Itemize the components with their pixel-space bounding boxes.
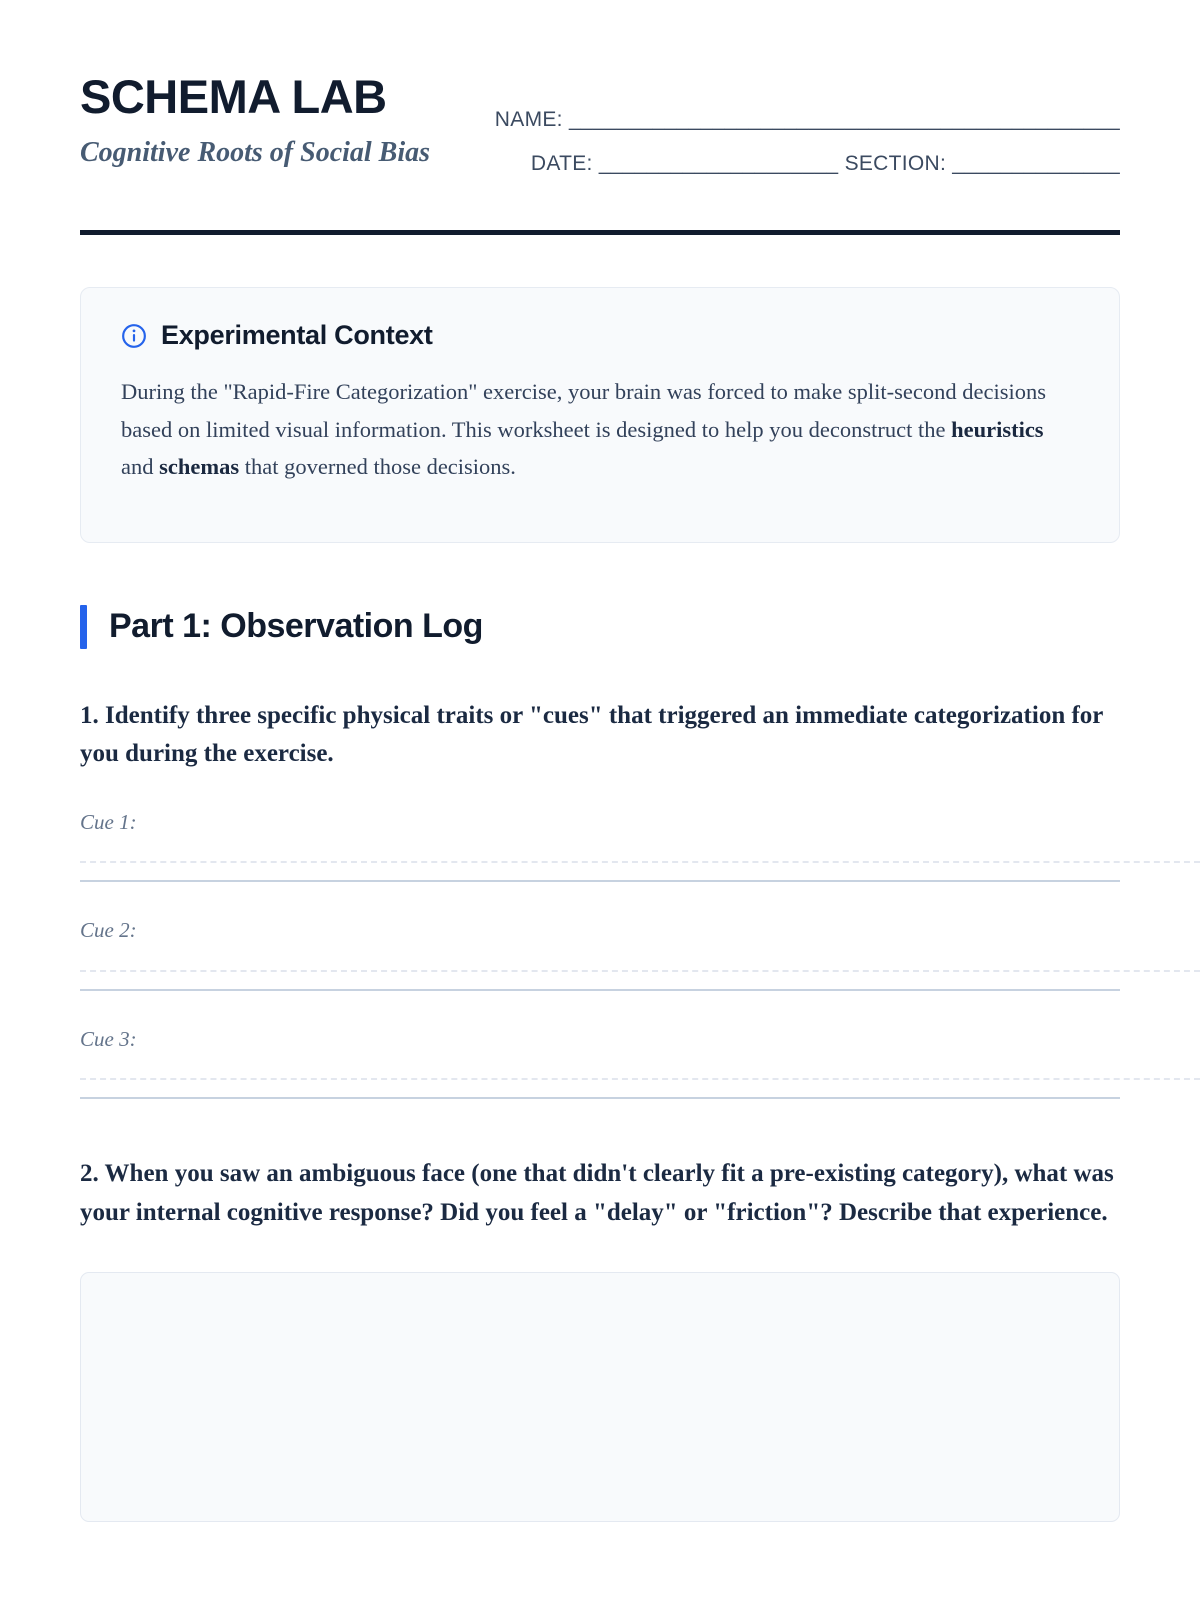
page-title: SCHEMA LAB bbox=[80, 72, 430, 121]
cue-1-answer-lines[interactable] bbox=[80, 861, 1120, 882]
header-title-block: SCHEMA LAB Cognitive Roots of Social Bia… bbox=[80, 72, 430, 173]
student-info-fields: NAME: __________________________________… bbox=[470, 72, 1120, 186]
name-field-blank[interactable]: ________________________________________… bbox=[569, 108, 1120, 131]
worksheet-header: SCHEMA LAB Cognitive Roots of Social Bia… bbox=[80, 0, 1120, 186]
cue-entry-3: Cue 3: bbox=[80, 1027, 1120, 1099]
cue-3-answer-lines[interactable] bbox=[80, 1078, 1120, 1099]
date-field-label: DATE: bbox=[531, 152, 593, 175]
callout-term-schemas: schemas bbox=[159, 454, 239, 479]
writing-line-dashed[interactable] bbox=[80, 970, 1200, 972]
part-1-heading: Part 1: Observation Log bbox=[80, 605, 1120, 649]
callout-body-text-1: During the "Rapid-Fire Categorization" e… bbox=[121, 379, 1046, 441]
callout-body: During the "Rapid-Fire Categorization" e… bbox=[121, 373, 1079, 485]
question-2-answer-box[interactable] bbox=[80, 1272, 1120, 1522]
callout-header: Experimental Context bbox=[121, 320, 1079, 351]
section-accent-bar bbox=[80, 605, 87, 649]
cue-2-label: Cue 2: bbox=[80, 918, 1120, 943]
callout-body-text-3: that governed those decisions. bbox=[239, 454, 516, 479]
cue-entry-1: Cue 1: bbox=[80, 810, 1120, 882]
cue-3-label: Cue 3: bbox=[80, 1027, 1120, 1052]
callout-term-heuristics: heuristics bbox=[951, 417, 1044, 442]
writing-line-solid[interactable] bbox=[80, 880, 1120, 882]
writing-line-dashed[interactable] bbox=[80, 1078, 1200, 1080]
name-field-label: NAME: bbox=[495, 108, 563, 131]
section-field-label: SECTION: bbox=[845, 152, 947, 175]
header-divider bbox=[80, 230, 1120, 235]
date-field-blank[interactable]: ____________________ bbox=[599, 152, 839, 175]
callout-body-text-2: and bbox=[121, 454, 159, 479]
question-1-text: 1. Identify three specific physical trai… bbox=[80, 697, 1120, 775]
section-field-blank[interactable]: ______________ bbox=[952, 152, 1120, 175]
callout-title: Experimental Context bbox=[161, 320, 433, 351]
page-subtitle: Cognitive Roots of Social Bias bbox=[80, 133, 430, 173]
writing-line-solid[interactable] bbox=[80, 1097, 1120, 1099]
worksheet-page: SCHEMA LAB Cognitive Roots of Social Bia… bbox=[0, 0, 1200, 1600]
writing-line-dashed[interactable] bbox=[80, 861, 1200, 863]
cue-entry-2: Cue 2: bbox=[80, 918, 1120, 990]
cue-1-label: Cue 1: bbox=[80, 810, 1120, 835]
section-title-text: Part 1: Observation Log bbox=[109, 607, 483, 646]
writing-line-solid[interactable] bbox=[80, 989, 1120, 991]
question-2-text: 2. When you saw an ambiguous face (one t… bbox=[80, 1155, 1120, 1233]
experimental-context-callout: Experimental Context During the "Rapid-F… bbox=[80, 287, 1120, 543]
cue-2-answer-lines[interactable] bbox=[80, 970, 1120, 991]
info-circle-icon bbox=[121, 323, 147, 349]
